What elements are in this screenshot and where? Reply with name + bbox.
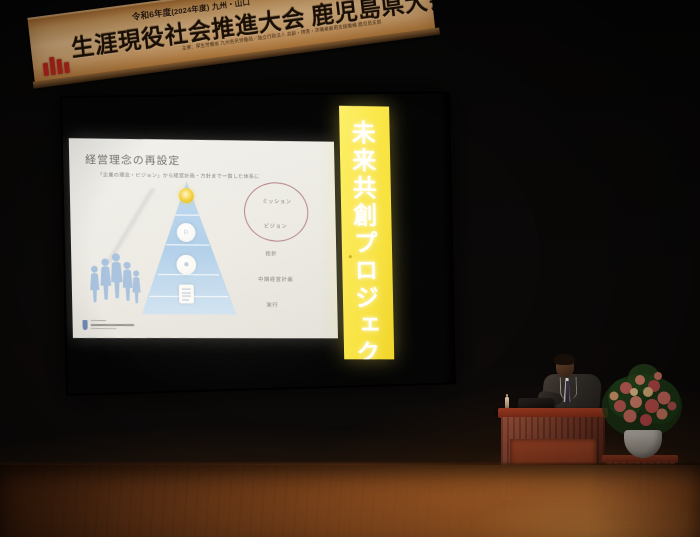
lanyard-icon <box>560 377 578 400</box>
slide-footer-logo <box>82 319 136 331</box>
pyramid-label-jikkou: 実行 <box>266 301 278 309</box>
slide-content: 経営理念の再設定 「企業の理念・ビジョン」から経営計画・方針まで一貫した体系に <box>69 138 338 338</box>
highlight-circle <box>243 182 308 242</box>
side-panel: 未来共創プロジェクト <box>339 106 394 360</box>
pyramid-label-mission: ミッション <box>262 197 291 205</box>
flag-icon: ⚐ <box>177 223 196 242</box>
projection-screen: 経営理念の再設定 「企業の理念・ビジョン」から経営計画・方針まで一貫した体系に <box>63 96 463 396</box>
compass-icon: ✵ <box>176 255 196 275</box>
star-icon <box>179 188 194 203</box>
presentation-photo: 経営理念の再設定 「企業の理念・ビジョン」から経営計画・方針まで一貫した体系に <box>0 0 700 537</box>
document-icon <box>179 285 194 304</box>
pyramid-label-shishin: 指針 <box>265 249 277 257</box>
ceramic-vase <box>624 430 662 458</box>
pyramid-label-vision: ビジョン <box>264 222 287 230</box>
panel-dot <box>349 255 352 258</box>
side-panel-title: 未来共創プロジェクト <box>350 120 385 360</box>
screen-inner: 経営理念の再設定 「企業の理念・ビジョン」から経営計画・方針まで一貫した体系に <box>62 93 454 394</box>
screen-bezel <box>439 93 454 386</box>
pyramid-label-plan: 中期経営計画 <box>258 275 293 283</box>
pyramid-graphic: ⚐ ✵ <box>127 179 252 319</box>
slide-title: 経営理念の再設定 <box>85 151 180 168</box>
speaker-hair <box>554 354 575 365</box>
jeed-logo-icon <box>42 53 70 76</box>
stage-floor <box>0 465 700 537</box>
screen-surface: 経営理念の再設定 「企業の理念・ビジョン」から経営計画・方針まで一貫した体系に <box>60 91 456 396</box>
